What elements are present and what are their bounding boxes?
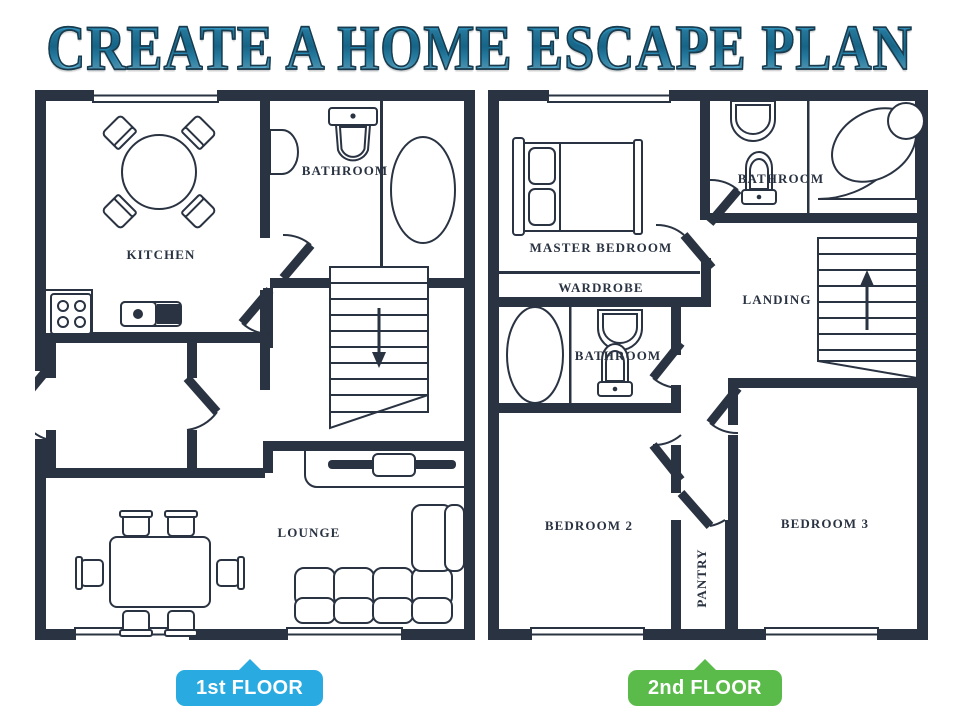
chair [102, 194, 137, 229]
toilet [329, 108, 377, 160]
oval-bathtub [391, 137, 455, 243]
chair [76, 557, 103, 589]
wash-basin [270, 130, 298, 174]
kitchen-sink [121, 302, 181, 326]
double-bed [513, 138, 642, 235]
chair [120, 511, 152, 536]
chair [120, 611, 152, 636]
chair [181, 194, 216, 229]
room-label-bathroom-upper: BATHROOM [738, 171, 825, 186]
upper-bathroom-fixtures [731, 93, 928, 204]
second-floor-plan: MASTER BEDROOM WARDROBE BATHROOM BATHROO… [488, 90, 928, 640]
room-label-bedroom-3: BEDROOM 3 [781, 516, 869, 531]
room-label-bathroom: BATHROOM [302, 163, 389, 178]
chair [181, 115, 216, 150]
pillow [529, 189, 555, 225]
room-label-kitchen: KITCHEN [126, 247, 195, 262]
badge-pointer-icon [693, 659, 717, 671]
staircase-down [330, 267, 428, 428]
chair [165, 611, 197, 636]
chair [165, 511, 197, 536]
oval-bathtub [507, 307, 563, 403]
chair [217, 557, 244, 589]
wash-basin [598, 310, 642, 350]
staircase-up [818, 238, 917, 378]
rectangular-dining-table [110, 537, 210, 607]
room-label-pantry: PANTRY [694, 548, 709, 607]
room-label-wardrobe: WARDROBE [558, 280, 643, 295]
second-floor-badge-label: 2nd FLOOR [648, 677, 762, 700]
room-label-master-bedroom: MASTER BEDROOM [530, 240, 673, 255]
chair [102, 115, 137, 150]
stove-four-burner [51, 294, 91, 334]
page-title-container: CREATE A HOME ESCAPE PLAN [0, 18, 960, 70]
second-floor-svg: MASTER BEDROOM WARDROBE BATHROOM BATHROO… [488, 90, 928, 640]
pillow [529, 148, 555, 184]
round-dining-table [122, 135, 196, 209]
master-bedroom-fixtures [513, 138, 642, 235]
tv-media-unit [305, 451, 464, 487]
escape-plan-page: CREATE A HOME ESCAPE PLAN [0, 0, 960, 720]
room-label-bathroom-lower: BATHROOM [575, 348, 662, 363]
first-floor-badge-label: 1st FLOOR [196, 677, 303, 700]
badge-pointer-icon [238, 659, 262, 671]
first-floor-plan: KITCHEN BATHROOM LOUNGE [35, 90, 475, 640]
l-shaped-sofa [295, 505, 464, 623]
page-title: CREATE A HOME ESCAPE PLAN [47, 18, 913, 81]
first-floor-svg: KITCHEN BATHROOM LOUNGE [35, 90, 475, 640]
second-floor-badge[interactable]: 2nd FLOOR [628, 670, 782, 706]
room-label-lounge: LOUNGE [278, 525, 341, 540]
lounge-fixtures [76, 451, 464, 636]
corner-jacuzzi-bath [818, 93, 928, 199]
wash-basin [731, 101, 775, 141]
door-swings [653, 180, 738, 526]
kitchen-fixtures [46, 115, 260, 334]
first-floor-badge[interactable]: 1st FLOOR [176, 670, 323, 706]
room-label-bedroom-2: BEDROOM 2 [545, 518, 633, 533]
room-label-landing: LANDING [742, 292, 811, 307]
